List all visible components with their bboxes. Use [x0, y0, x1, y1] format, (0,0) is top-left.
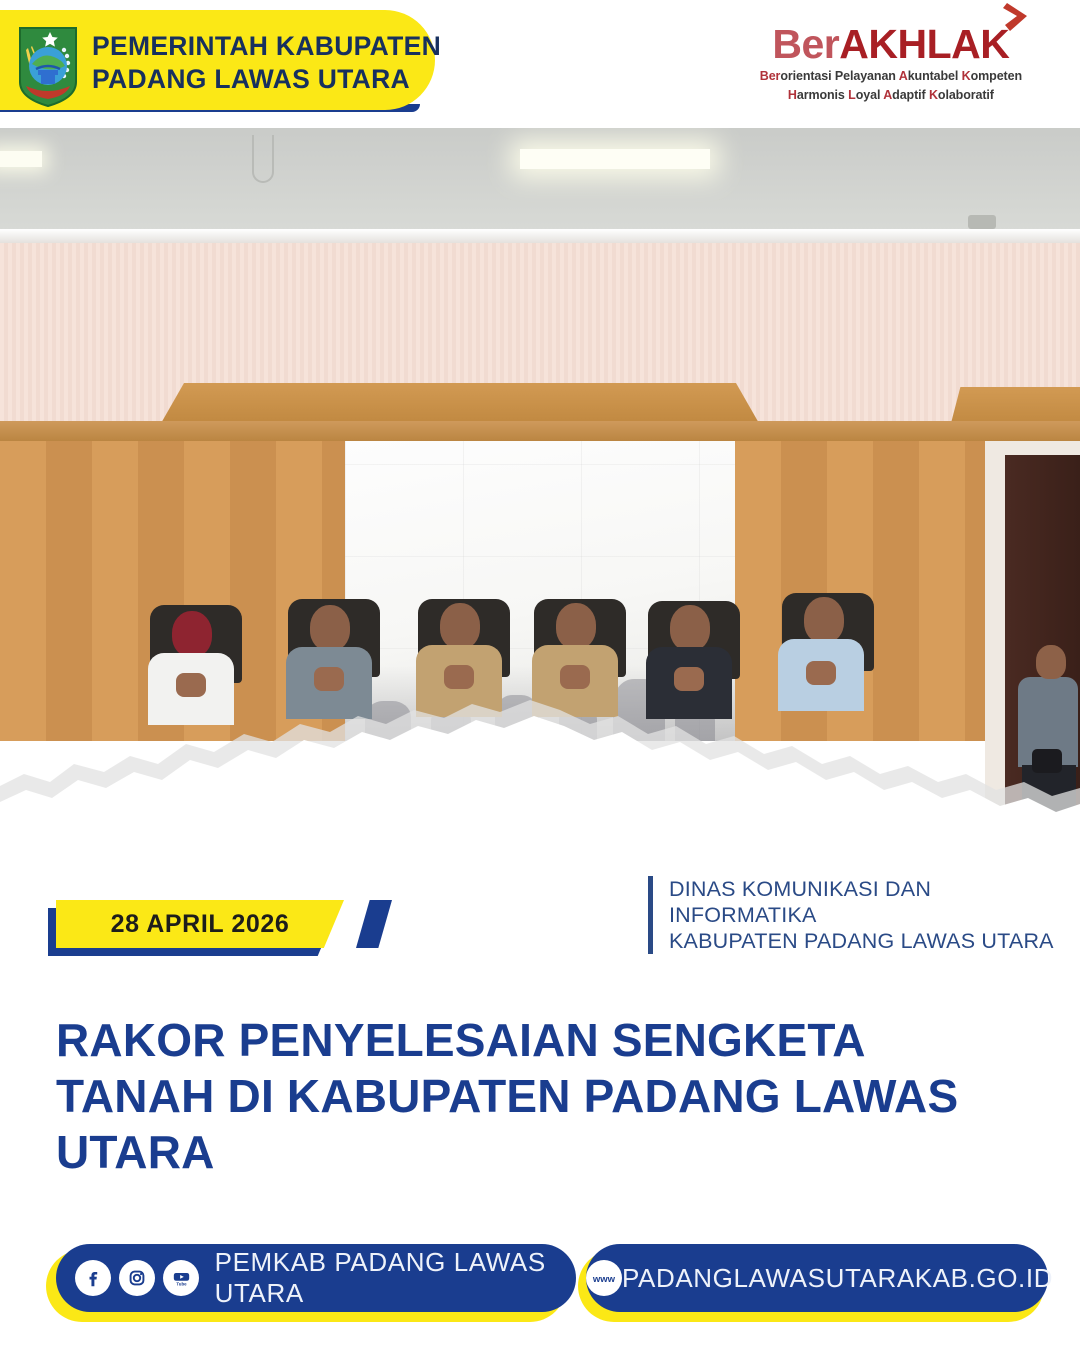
header-bar: PEMERINTAH KABUPATEN PADANG LAWAS UTARA … [0, 0, 1080, 128]
facebook-icon[interactable] [75, 1260, 111, 1296]
wood-rail [0, 421, 1080, 443]
date-badge-fill: 28 APRIL 2026 [56, 900, 344, 948]
berakhlak-prefix: Ber [772, 21, 839, 67]
website-label: PADANGLAWASUTARAKAB.GO.ID [622, 1263, 1053, 1294]
footer-website-pill[interactable]: www PADANGLAWASUTARAKAB.GO.ID [586, 1244, 1048, 1312]
berakhlak-wordmark: BerAKHLAK [772, 22, 1009, 66]
wood-valance [160, 383, 760, 425]
www-icon[interactable]: www [586, 1260, 622, 1296]
ceiling-speaker [968, 215, 996, 229]
gov-line-2: PADANG LAWAS UTARA [92, 63, 441, 96]
government-title: PEMERINTAH KABUPATEN PADANG LAWAS UTARA [92, 30, 441, 96]
berakhlak-tagline-1: Berorientasi Pelayanan Akuntabel Kompete… [760, 69, 1022, 85]
instagram-icon[interactable] [119, 1260, 155, 1296]
berakhlak-main: AKHLAK [839, 21, 1009, 67]
social-handle-label: PEMKAB PADANG LAWAS UTARA [215, 1247, 576, 1309]
berakhlak-logo: BerAKHLAK Berorientasi Pelayanan Akuntab… [760, 22, 1022, 103]
page-title: RAKOR PENYELESAIAN SENGKETA TANAH DI KAB… [56, 1012, 1006, 1180]
svg-text:www: www [592, 1274, 616, 1285]
standing-photographer-head [1036, 645, 1066, 679]
ceiling-light-left [0, 151, 42, 167]
agency-line-1: DINAS KOMUNIKASI DAN INFORMATIKA [669, 876, 1080, 928]
youtube-icon[interactable]: Tube [163, 1260, 199, 1296]
hanging-cable [252, 135, 274, 183]
agency-line-2: KABUPATEN PADANG LAWAS UTARA [669, 928, 1080, 954]
agency-block: DINAS KOMUNIKASI DAN INFORMATIKA KABUPAT… [648, 876, 1080, 954]
footer-social-pill[interactable]: Tube PEMKAB PADANG LAWAS UTARA [56, 1244, 576, 1312]
chevron-right-icon [1001, 0, 1035, 34]
date-text: 28 APRIL 2026 [111, 910, 290, 939]
svg-text:Tube: Tube [176, 1281, 187, 1286]
gov-line-1: PEMERINTAH KABUPATEN [92, 30, 441, 63]
date-badge-slash [356, 900, 392, 948]
berakhlak-tagline-2: Harmonis Loyal Adaptif Kolaboratif [760, 88, 1022, 104]
footer-bar: Tube PEMKAB PADANG LAWAS UTARA www PADAN… [0, 1238, 1080, 1350]
padang-lawas-utara-coat-of-arms-icon [16, 24, 80, 108]
ceiling-light-center [520, 149, 710, 169]
crown-molding [0, 229, 1080, 243]
torn-paper-edge [0, 690, 1080, 880]
ceiling [0, 125, 1080, 233]
